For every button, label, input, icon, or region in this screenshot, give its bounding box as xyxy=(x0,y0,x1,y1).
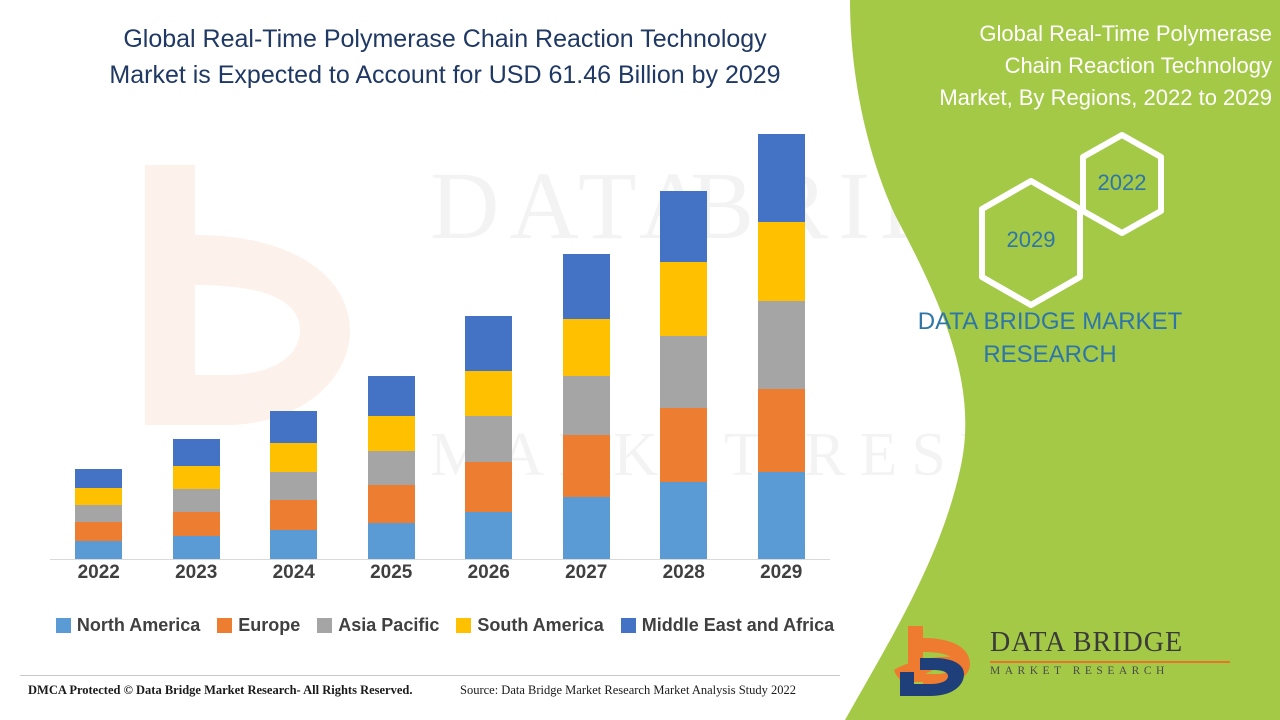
legend-swatch-icon xyxy=(621,618,636,633)
chart-bar-segment xyxy=(465,512,512,559)
chart-bar-segment xyxy=(660,336,707,408)
hexagon-label-end-year: 2029 xyxy=(970,227,1092,253)
chart-bar-segment xyxy=(465,371,512,417)
x-axis-label: 2025 xyxy=(349,562,433,584)
footer-source: Source: Data Bridge Market Research Mark… xyxy=(460,683,796,698)
chart-bar-segment xyxy=(75,505,122,522)
chart-bar-segment xyxy=(465,316,512,370)
legend-label: Middle East and Africa xyxy=(642,615,834,636)
page-title-line-2: Market is Expected to Account for USD 61… xyxy=(60,58,830,94)
chart-bar-segment xyxy=(368,451,415,485)
chart-bar-segment xyxy=(563,254,610,318)
legend-label: South America xyxy=(477,615,603,636)
green-panel-content: Global Real-Time Polymerase Chain Reacti… xyxy=(820,0,1280,720)
chart-bar-column xyxy=(544,110,628,559)
panel-title-line-3: Market, By Regions, 2022 to 2029 xyxy=(872,82,1272,114)
chart-bar xyxy=(270,411,317,559)
chart-bar-segment xyxy=(465,416,512,462)
chart-bar-column xyxy=(57,110,141,559)
chart-bar-segment xyxy=(270,500,317,530)
chart-bar-segment xyxy=(758,389,805,472)
legend-swatch-icon xyxy=(217,618,232,633)
legend-swatch-icon xyxy=(456,618,471,633)
x-axis-label: 2024 xyxy=(252,562,336,584)
chart-bar-segment xyxy=(660,191,707,262)
panel-title: Global Real-Time Polymerase Chain Reacti… xyxy=(872,18,1272,114)
chart-bar-segment xyxy=(173,466,220,489)
footer-divider xyxy=(20,675,840,676)
chart-bar-segment xyxy=(563,435,610,497)
x-axis-label: 2029 xyxy=(739,562,823,584)
legend-item[interactable]: North America xyxy=(56,615,200,636)
footer-copyright: DMCA Protected © Data Bridge Market Rese… xyxy=(28,683,413,698)
chart-bar-segment xyxy=(660,408,707,482)
chart-legend: North AmericaEuropeAsia PacificSouth Ame… xyxy=(50,615,840,636)
panel-title-line-2: Chain Reaction Technology xyxy=(872,50,1272,82)
x-axis-label: 2023 xyxy=(154,562,238,584)
legend-item[interactable]: Asia Pacific xyxy=(317,615,439,636)
chart-bar-segment xyxy=(75,469,122,487)
chart-bar-segment xyxy=(368,416,415,450)
chart-bar-segment xyxy=(173,536,220,559)
chart-bar-segment xyxy=(660,262,707,336)
chart-bar-segment xyxy=(368,485,415,523)
brand-name: DATA BRIDGE MARKET RESEARCH xyxy=(850,305,1250,371)
chart-bar-segment xyxy=(563,319,610,376)
chart-x-axis: 20222023202420252026202720282029 xyxy=(50,562,830,584)
chart-bar xyxy=(660,191,707,559)
legend-item[interactable]: Middle East and Africa xyxy=(621,615,834,636)
chart-bar xyxy=(368,376,415,559)
chart-bar-segment xyxy=(173,512,220,536)
chart-bar-segment xyxy=(368,523,415,559)
chart-bar-segment xyxy=(270,411,317,443)
chart-plot-area xyxy=(50,110,830,560)
page-title: Global Real-Time Polymerase Chain Reacti… xyxy=(60,22,830,93)
chart-bar xyxy=(758,134,805,559)
chart-bar-segment xyxy=(368,376,415,416)
chart-bar-segment xyxy=(660,482,707,559)
chart-bar-segment xyxy=(758,134,805,223)
chart-bar-segment xyxy=(758,301,805,388)
data-bridge-logo-icon xyxy=(890,620,985,700)
chart-bar-column xyxy=(642,110,726,559)
chart-bar xyxy=(75,469,122,559)
right-green-panel: Global Real-Time Polymerase Chain Reacti… xyxy=(820,0,1280,720)
chart-bar xyxy=(563,254,610,559)
chart-bar-segment xyxy=(173,489,220,512)
chart-bar-column xyxy=(252,110,336,559)
legend-swatch-icon xyxy=(317,618,332,633)
legend-label: North America xyxy=(77,615,200,636)
chart-bar-segment xyxy=(465,462,512,511)
chart-bar-segment xyxy=(270,530,317,559)
chart-bar-segment xyxy=(173,439,220,465)
panel-title-line-1: Global Real-Time Polymerase xyxy=(872,18,1272,50)
chart-bar-column xyxy=(349,110,433,559)
chart-bar-column xyxy=(154,110,238,559)
chart-bar-segment xyxy=(75,541,122,559)
legend-label: Asia Pacific xyxy=(338,615,439,636)
hexagon-badge-end-year: 2029 xyxy=(970,175,1092,311)
logo-wordmark: DATA BRIDGE MARKET RESEARCH xyxy=(990,628,1230,677)
chart-bar-segment xyxy=(75,488,122,505)
chart-bar-segment xyxy=(75,522,122,540)
chart-bar xyxy=(465,316,512,559)
x-axis-label: 2027 xyxy=(544,562,628,584)
page-title-line-1: Global Real-Time Polymerase Chain Reacti… xyxy=(60,22,830,58)
legend-label: Europe xyxy=(238,615,300,636)
chart-bar-segment xyxy=(563,376,610,435)
chart-bar-segment xyxy=(270,472,317,501)
brand-name-line-2: RESEARCH xyxy=(850,338,1250,371)
infographic-canvas: DATA BRIDGE MARKET RESEARCH Global Real-… xyxy=(0,0,1280,720)
chart-bar-segment xyxy=(758,222,805,301)
chart-bar-column xyxy=(739,110,823,559)
hexagon-badges: 2022 2029 xyxy=(970,130,1200,290)
x-axis-label: 2028 xyxy=(642,562,726,584)
chart-bar-segment xyxy=(270,443,317,472)
company-logo: DATA BRIDGE MARKET RESEARCH xyxy=(890,620,1230,700)
legend-swatch-icon xyxy=(56,618,71,633)
x-axis-label: 2022 xyxy=(57,562,141,584)
logo-divider xyxy=(990,661,1230,663)
chart-bar xyxy=(173,439,220,559)
logo-tagline: MARKET RESEARCH xyxy=(990,665,1230,677)
chart-bar-segment xyxy=(563,497,610,559)
logo-primary-text: DATA BRIDGE xyxy=(990,628,1230,659)
chart-bar-segment xyxy=(758,472,805,559)
chart-bar-column xyxy=(447,110,531,559)
stacked-bar-chart xyxy=(50,110,830,560)
brand-name-line-1: DATA BRIDGE MARKET xyxy=(850,305,1250,338)
x-axis-label: 2026 xyxy=(447,562,531,584)
legend-item[interactable]: South America xyxy=(456,615,603,636)
legend-item[interactable]: Europe xyxy=(217,615,300,636)
